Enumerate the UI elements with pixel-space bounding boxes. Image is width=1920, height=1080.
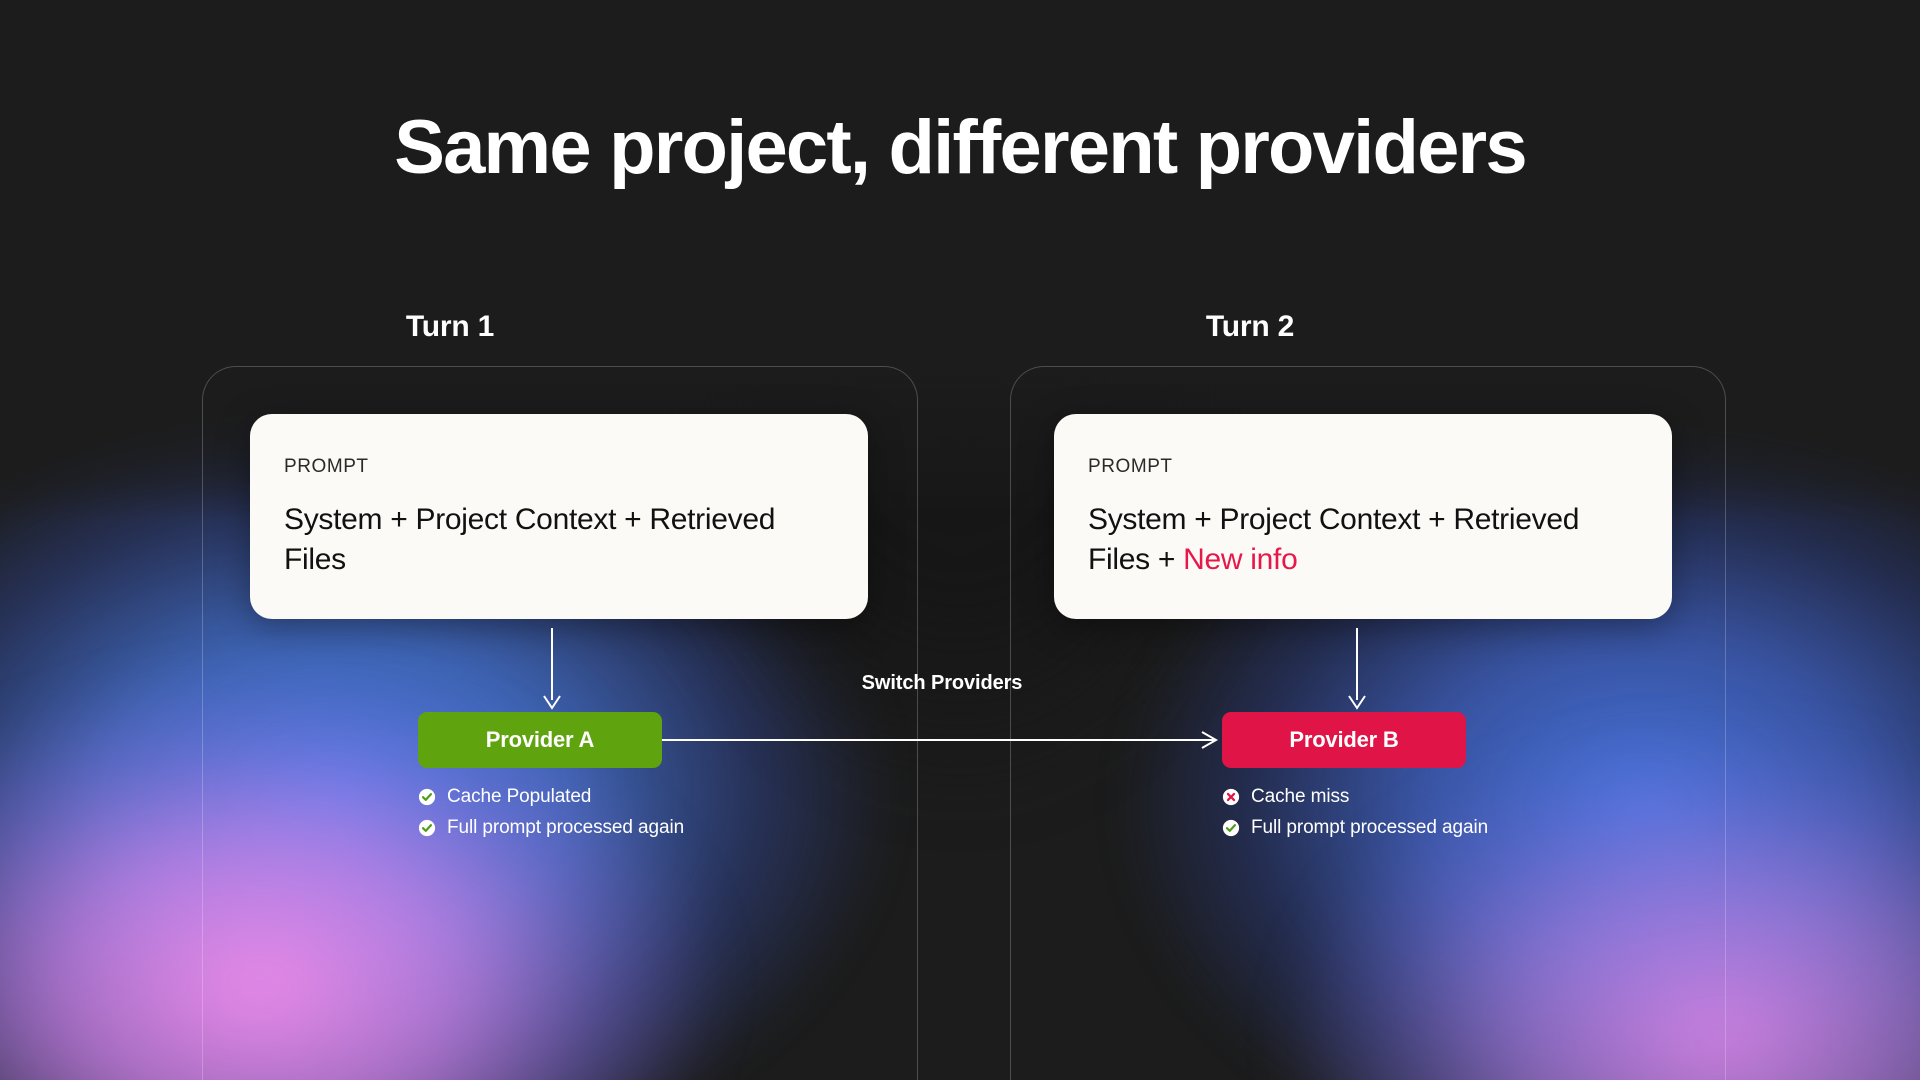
provider-b-pill[interactable]: Provider B bbox=[1222, 712, 1466, 768]
prompt-text: System + Project Context + Retrieved Fil… bbox=[1088, 500, 1638, 579]
status-label: Full prompt processed again bbox=[1251, 817, 1488, 840]
prompt-kicker: PROMPT bbox=[284, 456, 834, 478]
provider-a-pill[interactable]: Provider A bbox=[418, 712, 662, 768]
arrow-down-turn-1 bbox=[540, 628, 564, 714]
prompt-card-turn-2[interactable]: PROMPT System + Project Context + Retrie… bbox=[1054, 414, 1672, 619]
status-label: Full prompt processed again bbox=[447, 817, 684, 840]
status-label: Cache Populated bbox=[447, 786, 591, 809]
prompt-card-turn-1[interactable]: PROMPT System + Project Context + Retrie… bbox=[250, 414, 868, 619]
x-circle-icon bbox=[1222, 788, 1240, 806]
provider-b-label: Provider B bbox=[1289, 727, 1398, 753]
turn-1-label: Turn 1 bbox=[330, 310, 570, 344]
status-list-turn-2: Cache miss Full prompt processed again bbox=[1222, 786, 1488, 840]
diagram-canvas: Same project, different providers Turn 1… bbox=[0, 0, 1920, 1080]
prompt-text-highlight: New info bbox=[1183, 543, 1297, 576]
switch-providers-label: Switch Providers bbox=[662, 672, 1222, 695]
check-circle-icon bbox=[418, 819, 436, 837]
prompt-text: System + Project Context + Retrieved Fil… bbox=[284, 500, 834, 579]
status-label: Cache miss bbox=[1251, 786, 1349, 809]
status-list-turn-1: Cache Populated Full prompt processed ag… bbox=[418, 786, 684, 840]
status-row: Full prompt processed again bbox=[418, 817, 684, 840]
turn-2-label: Turn 2 bbox=[1130, 310, 1370, 344]
status-row: Full prompt processed again bbox=[1222, 817, 1488, 840]
arrow-right-switch-providers bbox=[662, 712, 1222, 768]
prompt-text-base: System + Project Context + Retrieved Fil… bbox=[1088, 503, 1579, 576]
prompt-text-base: System + Project Context + Retrieved Fil… bbox=[284, 503, 775, 576]
status-row: Cache Populated bbox=[418, 786, 684, 809]
check-circle-icon bbox=[1222, 819, 1240, 837]
provider-a-label: Provider A bbox=[486, 727, 594, 753]
page-title: Same project, different providers bbox=[0, 108, 1920, 189]
status-row: Cache miss bbox=[1222, 786, 1488, 809]
check-circle-icon bbox=[418, 788, 436, 806]
arrow-down-turn-2 bbox=[1345, 628, 1369, 714]
prompt-kicker: PROMPT bbox=[1088, 456, 1638, 478]
